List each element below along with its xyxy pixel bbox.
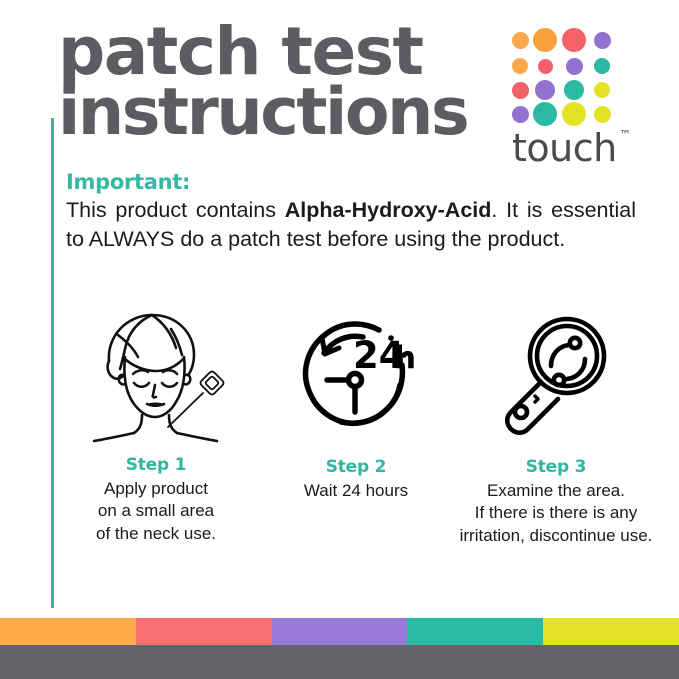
logo-dot-r3-c4 — [594, 82, 610, 98]
footer-color-segment-2 — [136, 618, 272, 645]
svg-text:h: h — [394, 340, 416, 376]
step-1-description: Apply product on a small area of the nec… — [96, 478, 216, 545]
patch-test-instructions-page: patch test instructions touch ™ Importan… — [0, 0, 679, 679]
logo-dot-r4-c1 — [512, 106, 529, 123]
brand-logo: touch ™ — [512, 30, 642, 170]
step-1-title: Step 1 — [126, 455, 187, 475]
logo-dot-r1-c2 — [533, 28, 557, 52]
logo-dot-r2-c1 — [512, 58, 528, 74]
brand-name: touch ™ — [512, 126, 617, 170]
step-3-description: Examine the area. If there is there is a… — [460, 480, 653, 547]
steps-row: Step 1 Apply product on a small area of … — [56, 305, 656, 547]
step-1: Step 1 Apply product on a small area of … — [56, 305, 256, 545]
magnifying-glass-skin-icon — [491, 305, 621, 445]
footer-color-segment-3 — [272, 618, 408, 645]
logo-dot-r1-c4 — [594, 32, 611, 49]
logo-dot-r3-c2 — [535, 80, 555, 100]
intro-body-text: This product contains Alpha-Hydroxy-Acid… — [66, 196, 636, 253]
intro-body-emphasis: Alpha-Hydroxy-Acid — [285, 198, 492, 222]
step-3: Step 3 Examine the area. If there is the… — [456, 305, 656, 547]
face-with-towel-and-patch-icon — [76, 305, 236, 445]
logo-dot-r1-c3 — [562, 28, 586, 52]
accent-vertical-rule — [51, 118, 54, 608]
footer-bar — [0, 645, 679, 679]
step-2-description: Wait 24 hours — [304, 480, 408, 502]
footer-color-segment-1 — [0, 618, 136, 645]
step-3-title: Step 3 — [526, 457, 587, 477]
logo-dot-r2-c2 — [538, 59, 553, 74]
step-2-title: Step 2 — [326, 457, 387, 477]
clock-24h-icon: 24 h — [291, 305, 421, 445]
logo-dot-r2-c4 — [594, 58, 610, 74]
dot-grid-logo-icon — [512, 30, 612, 122]
logo-dot-r2-c3 — [566, 58, 583, 75]
footer-color-bar — [0, 618, 679, 645]
logo-dot-r3-c3 — [564, 80, 584, 100]
brand-name-text: touch — [512, 126, 617, 170]
footer-color-segment-5 — [543, 618, 679, 645]
important-label: Important: — [66, 170, 636, 194]
logo-dot-r4-c4 — [594, 106, 611, 123]
footer-color-segment-4 — [407, 618, 543, 645]
page-title: patch test instructions — [58, 22, 508, 143]
title-line-secondary: instructions — [58, 83, 508, 143]
trademark-icon: ™ — [619, 128, 631, 142]
intro-body-prefix: This product contains — [66, 198, 285, 222]
step-2: 24 h Step 2 Wait 24 hours — [256, 305, 456, 502]
intro-block: Important: This product contains Alpha-H… — [66, 170, 636, 253]
logo-dot-r4-c2 — [533, 102, 557, 126]
title-line-primary: patch test — [58, 22, 508, 83]
logo-dot-r4-c3 — [562, 102, 586, 126]
logo-dot-r3-c1 — [512, 82, 529, 99]
logo-dot-r1-c1 — [512, 32, 529, 49]
